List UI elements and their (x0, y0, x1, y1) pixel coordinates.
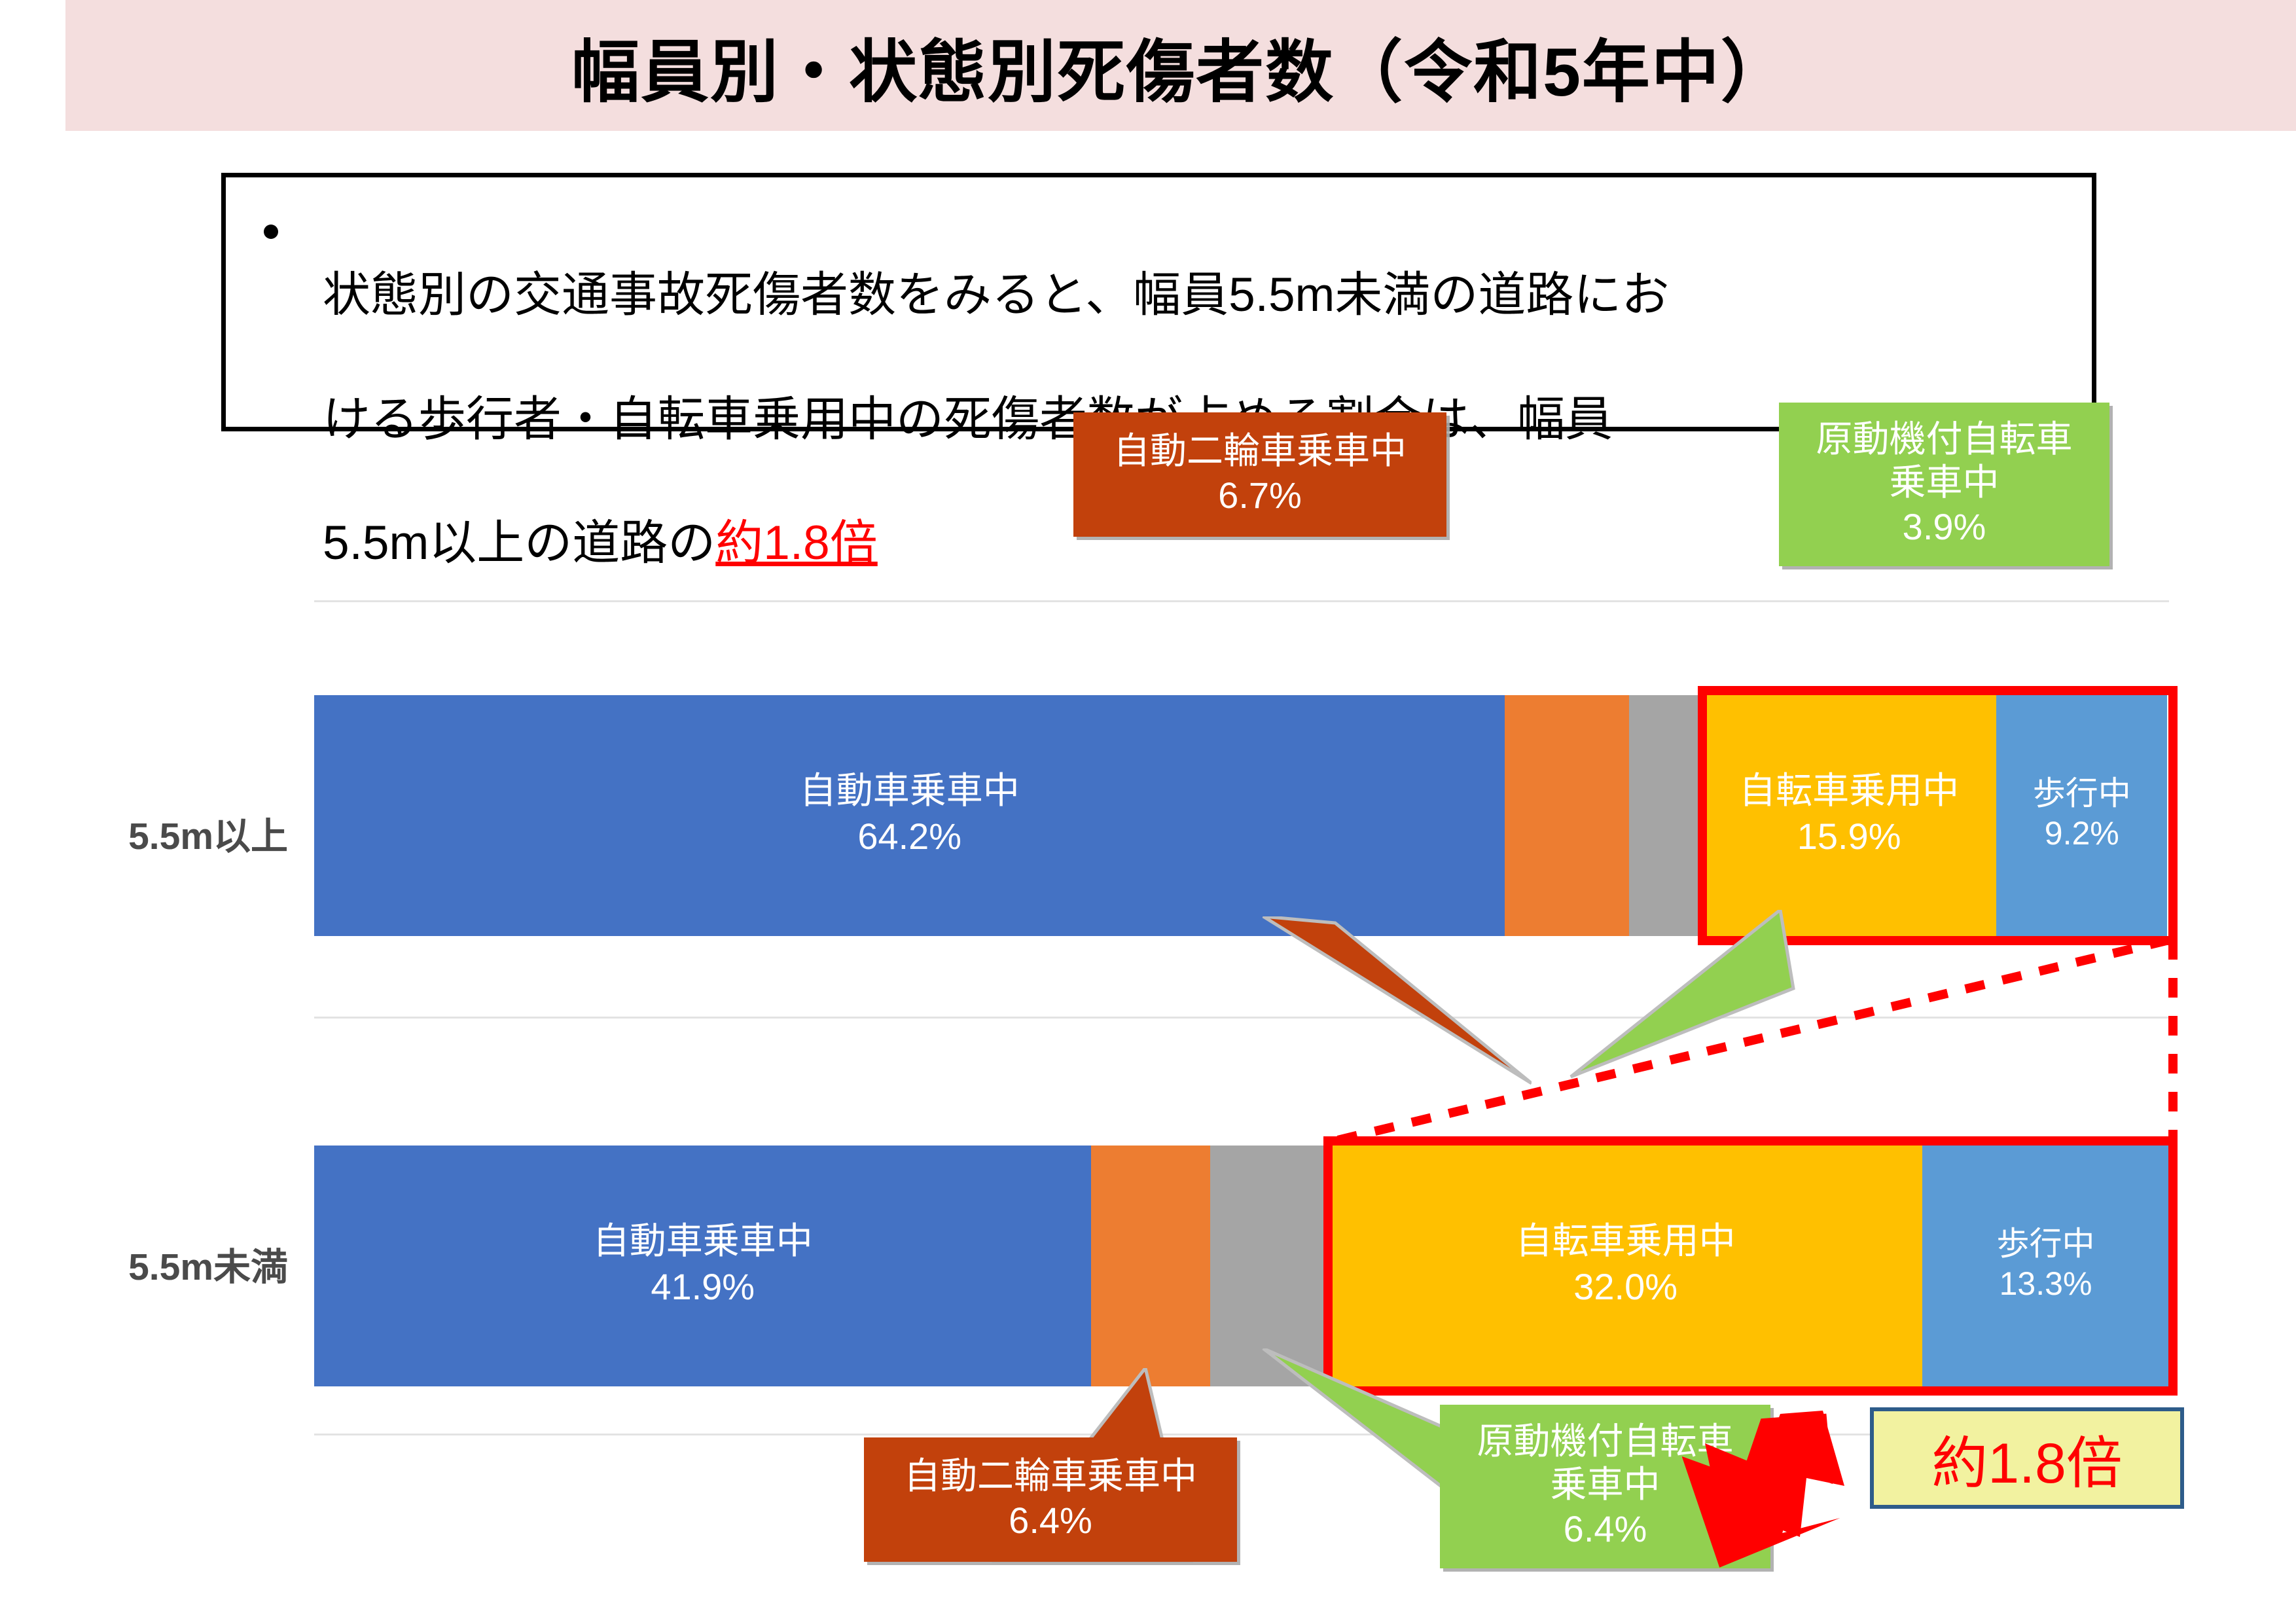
segment-pedestrian-below[interactable]: 歩行中 13.3% (1922, 1146, 2169, 1386)
title-banner: 幅員別・状態別死傷者数（令和5年中） (65, 0, 2296, 131)
callout-value: 6.7% (1218, 472, 1302, 520)
segment-car-below[interactable]: 自動車乗車中 41.9% (314, 1146, 1091, 1386)
callout-motorcycle-below: 自動二輪車乗車中 6.4% (864, 1437, 1237, 1562)
callout-label-line2: 乗車中 (1551, 1463, 1660, 1506)
segment-label: 歩行中 (2033, 775, 2131, 812)
callout-tail-motorcycle-above (1073, 916, 1532, 1087)
callout-value: 6.4% (1564, 1506, 1647, 1553)
segment-label: 自転車乗用中 (1516, 1221, 1736, 1262)
chart-area: 5.5m以上 自動車乗車中 64.2% 自転車乗用中 15.9% 歩行中 9.2… (0, 432, 2296, 1624)
callout-label-line1: 原動機付自転車 (1816, 418, 2073, 461)
segment-value: 41.9% (651, 1262, 755, 1312)
segment-value: 32.0% (1573, 1262, 1677, 1312)
category-label-below: 5.5m未満 (39, 1237, 288, 1291)
callout-label: 自動二輪車乗車中 (904, 1454, 1197, 1498)
callout-value: 3.9% (1903, 503, 1986, 551)
callout-moped-below: 原動機付自転車 乗車中 6.4% (1440, 1405, 1770, 1568)
segment-moped-above[interactable] (1629, 695, 1702, 936)
ratio-badge: 約1.8倍 (1870, 1407, 2184, 1509)
gridline-1 (314, 600, 2169, 602)
summary-box: 状態別の交通事故死傷者数をみると、幅員5.5m未満の道路にお ける歩行者・自転車… (221, 173, 2096, 431)
callout-label-line1: 原動機付自転車 (1477, 1420, 1734, 1463)
callout-moped-above: 原動機付自転車 乗車中 3.9% (1779, 403, 2109, 566)
ratio-badge-label: 約1.8倍 (1931, 1417, 2123, 1499)
segment-label: 歩行中 (1997, 1225, 2095, 1262)
segment-label: 自動車乗車中 (800, 770, 1020, 812)
segment-value: 64.2% (857, 812, 961, 861)
segment-label: 自転車乗用中 (1739, 770, 1959, 812)
segment-bicycle-above[interactable]: 自転車乗用中 15.9% (1702, 695, 1997, 936)
callout-motorcycle-above: 自動二輪車乗車中 6.7% (1073, 412, 1446, 537)
bar-row-below[interactable]: 自動車乗車中 41.9% 自転車乗用中 32.0% 歩行中 13.3% (314, 1146, 2169, 1386)
ratio-connector-lines (1296, 936, 2186, 1146)
slide-root: 幅員別・状態別死傷者数（令和5年中） 状態別の交通事故死傷者数をみると、幅員5.… (0, 0, 2296, 1624)
segment-motorcycle-below[interactable] (1091, 1146, 1210, 1386)
summary-line-1: 状態別の交通事故死傷者数をみると、幅員5.5m未満の道路にお (323, 264, 2072, 327)
bar-row-above[interactable]: 自動車乗車中 64.2% 自転車乗用中 15.9% 歩行中 9.2% (314, 695, 2169, 936)
segment-value: 15.9% (1797, 812, 1901, 861)
segment-car-above[interactable]: 自動車乗車中 64.2% (314, 695, 1505, 936)
segment-bicycle-below[interactable]: 自転車乗用中 32.0% (1329, 1146, 1922, 1386)
page-title: 幅員別・状態別死傷者数（令和5年中） (571, 16, 1790, 115)
segment-value: 9.2% (2045, 812, 2119, 856)
segment-value: 13.3% (2000, 1262, 2092, 1307)
segment-moped-below[interactable] (1210, 1146, 1329, 1386)
category-label-above: 5.5m以上 (52, 806, 288, 860)
segment-motorcycle-above[interactable] (1505, 695, 1629, 936)
bullet-dot-icon (264, 225, 278, 239)
callout-label: 自動二輪車乗車中 (1113, 429, 1407, 473)
callout-label-line2: 乗車中 (1890, 461, 2000, 504)
segment-pedestrian-above[interactable]: 歩行中 9.2% (1996, 695, 2167, 936)
segment-label: 自動車乗車中 (593, 1221, 813, 1262)
callout-value: 6.4% (1009, 1497, 1092, 1545)
gridline-2 (314, 1017, 2169, 1019)
